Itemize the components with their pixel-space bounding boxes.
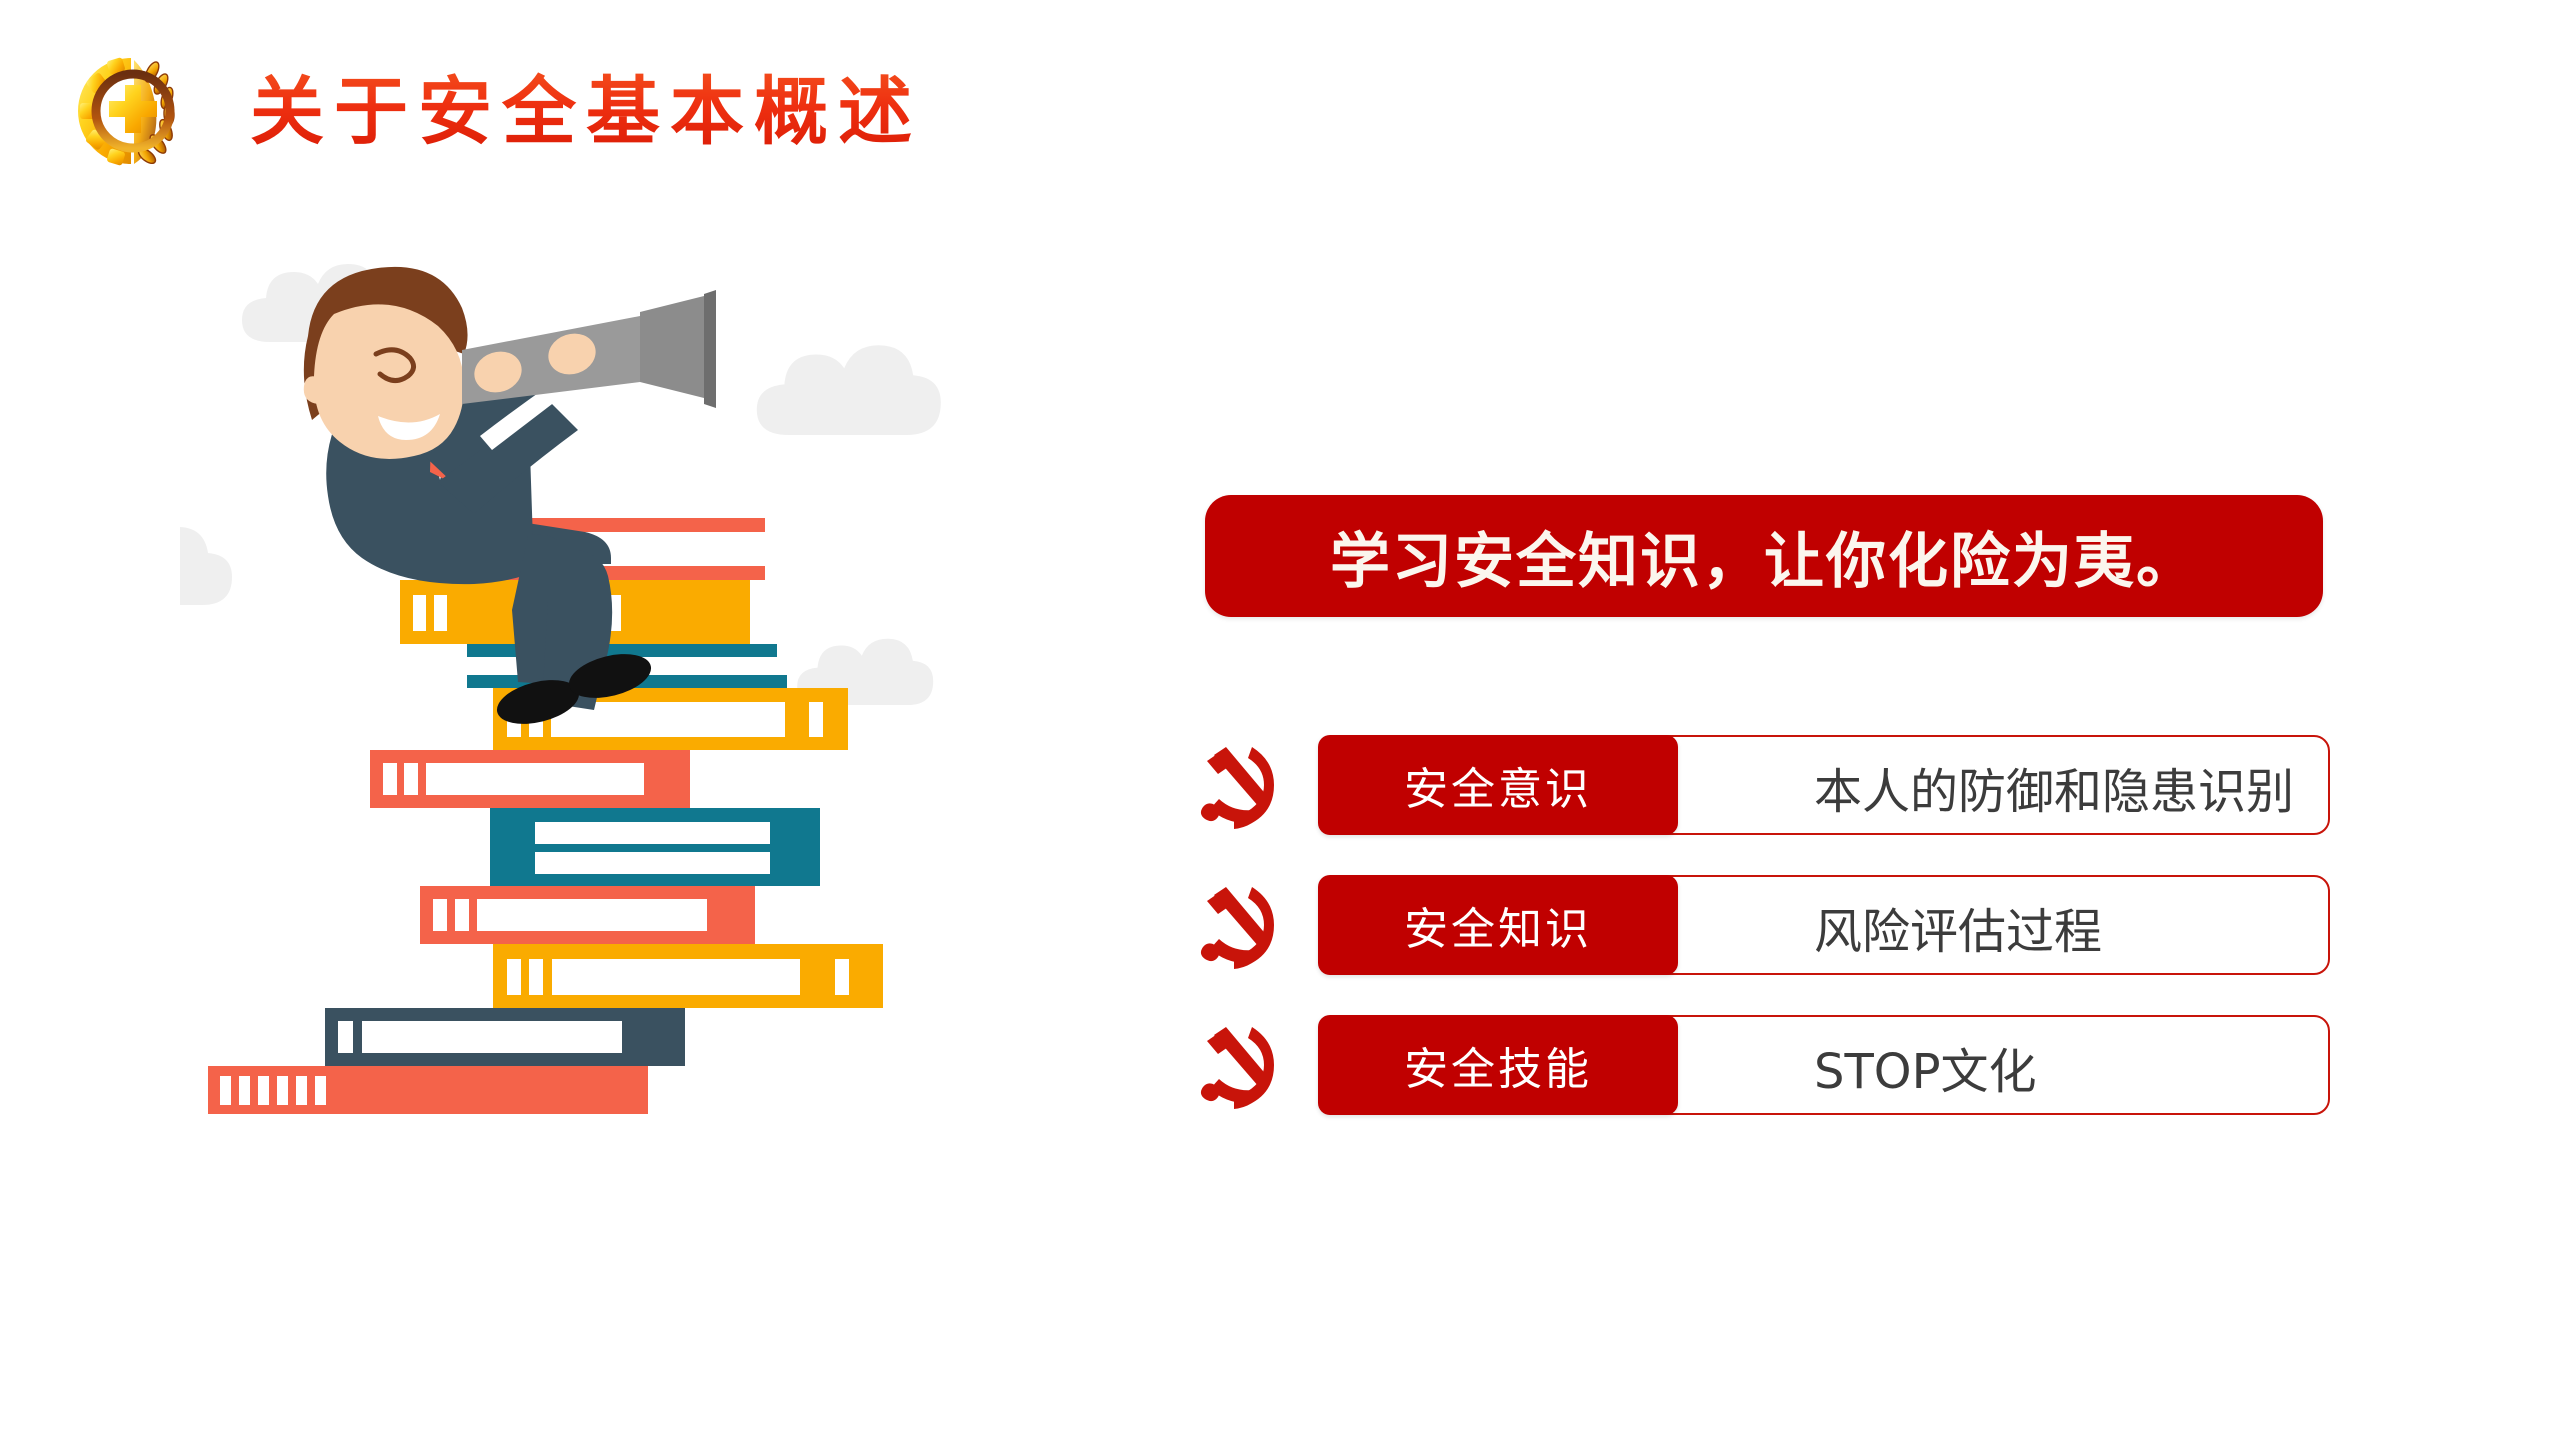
page-title: 关于安全基本概述 bbox=[250, 62, 922, 162]
headline-banner: 学习安全知识，让你化险为夷。 bbox=[1205, 495, 2323, 617]
safety-production-emblem-icon bbox=[68, 50, 198, 172]
list-item[interactable]: 本人的防御和隐患识别 安全意识 bbox=[1200, 735, 2330, 835]
list-item-label-chip[interactable]: 安全意识 bbox=[1318, 735, 1678, 835]
illustration-man-with-telescope bbox=[180, 250, 1200, 1330]
feature-list: 本人的防御和隐患识别 安全意识 bbox=[1200, 735, 2330, 1155]
hammer-sickle-icon bbox=[1192, 739, 1284, 831]
list-item[interactable]: 风险评估过程 安全知识 bbox=[1200, 875, 2330, 975]
list-item[interactable]: STOP文化 安全技能 bbox=[1200, 1015, 2330, 1115]
list-item-label: 安全知识 bbox=[1404, 893, 1592, 957]
slide-header: 关于安全基本概述 bbox=[0, 0, 2560, 190]
headline-banner-text: 学习安全知识，让你化险为夷。 bbox=[1330, 513, 2198, 600]
list-item-description: 本人的防御和隐患识别 bbox=[1814, 737, 2294, 837]
list-item-description: STOP文化 bbox=[1814, 1017, 2037, 1117]
hammer-sickle-icon bbox=[1192, 1019, 1284, 1111]
list-item-label: 安全技能 bbox=[1404, 1033, 1592, 1097]
list-item-label-chip[interactable]: 安全知识 bbox=[1318, 875, 1678, 975]
list-item-description: 风险评估过程 bbox=[1814, 877, 2102, 977]
list-item-label-chip[interactable]: 安全技能 bbox=[1318, 1015, 1678, 1115]
hammer-sickle-icon bbox=[1192, 879, 1284, 971]
list-item-label: 安全意识 bbox=[1404, 753, 1592, 817]
slide-root: 关于安全基本概述 bbox=[0, 0, 2560, 1440]
businessman-figure bbox=[304, 267, 716, 732]
